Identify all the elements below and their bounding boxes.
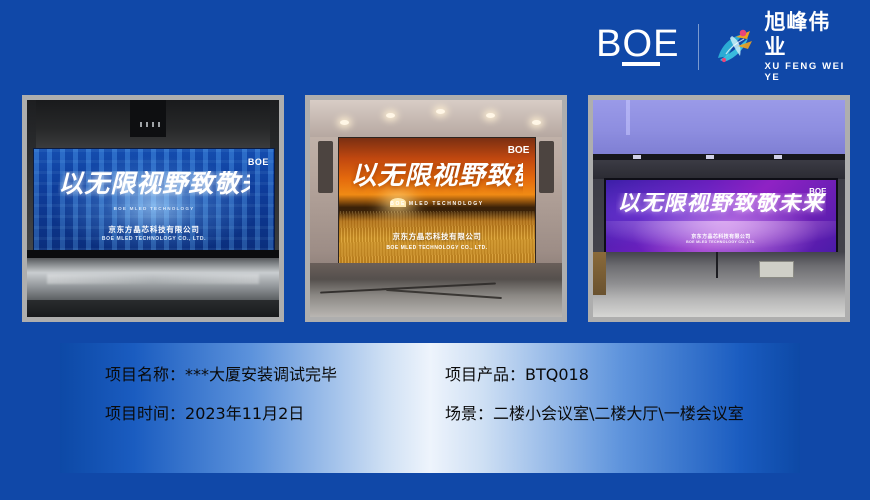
wall-strip <box>626 100 630 135</box>
project-name-value: ***大厦安装调试完毕 <box>185 365 337 384</box>
slide-root: BOE 旭峰伟业 XU FENG WEI YE <box>0 0 870 500</box>
upper-wall <box>593 100 845 154</box>
wood-pillar <box>593 252 606 295</box>
project-product-value: BTQ018 <box>525 365 589 384</box>
screen-brand-boe: BOE <box>809 187 826 196</box>
scene-label: 场景： <box>445 404 493 423</box>
scene-value: 二楼小会议室\二楼大厅\一楼会议室 <box>493 404 744 423</box>
screen-company-en: BOE MLED TECHNOLOGY CO., LTD. <box>34 236 273 242</box>
partner-name-en: XU FENG WEI YE <box>764 61 852 84</box>
speaker-right <box>539 141 554 193</box>
photo-blue-led-wall: 以无限视野致敬未来 BOE MLED TECHNOLOGY 京东方晶芯科技有限公… <box>27 100 279 317</box>
screen-company-en: BOE MLED TECHNOLOGY CO.,LTD. <box>606 240 835 244</box>
screen-slogan-sub: BOE MLED TECHNOLOGY <box>339 201 536 207</box>
photo-purple-led-wall: 以无限视野致敬未来 京东方晶芯科技有限公司 BOE MLED TECHNOLOG… <box>593 100 845 317</box>
floor-cable <box>716 252 718 278</box>
photo-frame-1[interactable]: 以无限视野致敬未来 BOE MLED TECHNOLOGY 京东方晶芯科技有限公… <box>22 95 284 322</box>
partner-logo: 旭峰伟业 XU FENG WEI YE <box>712 10 852 83</box>
speaker-left <box>318 141 333 193</box>
project-time-value: 2023年11月2日 <box>185 404 304 423</box>
wall-reflection <box>47 274 259 285</box>
screen-company-cn: 京东方晶芯科技有限公司 <box>34 224 273 235</box>
photo-sunset-led-wall: 以无限视野致敬未来 BOE MLED TECHNOLOGY 京东方晶芯科技有限公… <box>310 100 562 317</box>
dark-band <box>593 160 845 180</box>
ceiling <box>310 100 562 137</box>
ceiling-beam <box>130 100 165 137</box>
project-name-label: 项目名称： <box>105 365 185 384</box>
project-name-row: 项目名称：***大厦安装调试完毕 <box>105 365 445 386</box>
logo-divider <box>698 24 700 70</box>
floor <box>593 252 845 317</box>
photo-frame-3[interactable]: 以无限视野致敬未来 京东方晶芯科技有限公司 BOE MLED TECHNOLOG… <box>588 95 850 322</box>
header-logo-bar: BOE 旭峰伟业 XU FENG WEI YE <box>592 18 852 76</box>
photo-frame-2[interactable]: 以无限视野致敬未来 BOE MLED TECHNOLOGY 京东方晶芯科技有限公… <box>305 95 567 322</box>
partner-name-cn: 旭峰伟业 <box>764 10 852 58</box>
screen-brand-boe: BOE <box>508 145 530 156</box>
screen-company-en: BOE MLED TECHNOLOGY CO., LTD. <box>339 245 536 251</box>
project-time-row: 项目时间：2023年11月2日 <box>105 404 445 425</box>
rail-marker <box>633 155 641 158</box>
photo-gallery: 以无限视野致敬未来 BOE MLED TECHNOLOGY 京东方晶芯科技有限公… <box>22 95 850 322</box>
ceiling-light <box>436 109 445 114</box>
boe-logo-underline <box>622 62 660 66</box>
project-info-grid: 项目名称：***大厦安装调试完毕 项目产品：BTQ018 项目时间：2023年1… <box>105 365 805 425</box>
led-screen-3: 以无限视野致敬未来 京东方晶芯科技有限公司 BOE MLED TECHNOLOG… <box>604 178 837 256</box>
project-product-label: 项目产品： <box>445 365 525 384</box>
boe-logo-text: BOE <box>596 25 679 63</box>
led-screen-2: 以无限视野致敬未来 BOE MLED TECHNOLOGY 京东方晶芯科技有限公… <box>338 137 537 265</box>
screen-slogan-sub: BOE MLED TECHNOLOGY <box>34 206 273 211</box>
ceiling-light <box>386 113 395 118</box>
xufeng-bird-icon <box>712 24 758 70</box>
partner-wordmark: 旭峰伟业 XU FENG WEI YE <box>764 10 852 83</box>
ceiling-light <box>532 120 541 125</box>
project-info-panel: 项目名称：***大厦安装调试完毕 项目产品：BTQ018 项目时间：2023年1… <box>60 343 800 473</box>
rail-marker <box>706 155 714 158</box>
boe-logo: BOE <box>592 23 684 71</box>
ceiling-lights <box>140 122 160 127</box>
project-product-row: 项目产品：BTQ018 <box>445 365 805 386</box>
floor <box>27 300 279 317</box>
scene-row: 场景：二楼小会议室\二楼大厅\一楼会议室 <box>445 404 805 425</box>
rail-marker <box>774 155 782 158</box>
screen-slogan: 以无限视野致敬未来 <box>58 171 250 206</box>
screen-brand-boe: BOE <box>248 157 269 167</box>
led-screen-1: 以无限视野致敬未来 BOE MLED TECHNOLOGY 京东方晶芯科技有限公… <box>33 148 274 252</box>
ceiling-light <box>340 120 349 125</box>
screen-base-band <box>27 250 279 259</box>
screen-company-cn: 京东方晶芯科技有限公司 <box>339 231 536 242</box>
screen-slogan: 以无限视野致敬未来 <box>616 193 827 227</box>
screen-slogan: 以无限视野致敬未来 <box>351 163 524 201</box>
project-time-label: 项目时间： <box>105 404 185 423</box>
wall-panel-box <box>759 261 794 278</box>
